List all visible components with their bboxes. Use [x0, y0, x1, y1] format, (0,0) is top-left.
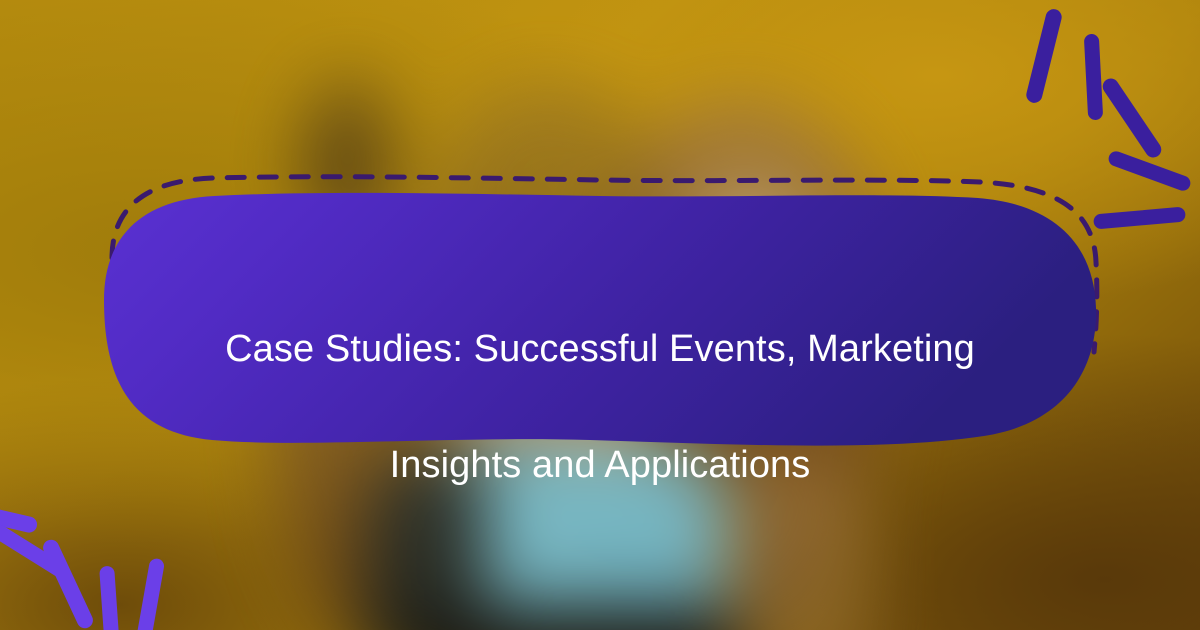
dark-skirt [410, 608, 740, 630]
sparkle-burst-top-right-ray-1 [1025, 7, 1064, 104]
sparkle-burst-bottom-left-ray-4 [99, 566, 120, 630]
hair-top-knot [300, 78, 392, 228]
title-line-1: Case Studies: Successful Events, Marketi… [130, 320, 1070, 378]
sparkle-burst-top-right-ray-2 [1084, 34, 1103, 121]
banner-canvas: Case Studies: Successful Events, Marketi… [0, 0, 1200, 630]
sparkle-burst-bottom-left-ray-5 [134, 557, 165, 630]
sparkle-burst-bottom-left [0, 460, 180, 630]
sparkle-burst-top-right [1010, 0, 1200, 175]
sparkle-burst-bottom-left-ray-3 [40, 537, 95, 630]
banner-title: Case Studies: Successful Events, Marketi… [130, 262, 1070, 552]
title-line-2: Insights and Applications [130, 436, 1070, 494]
sparkle-burst-top-right-ray-3 [1100, 75, 1165, 160]
